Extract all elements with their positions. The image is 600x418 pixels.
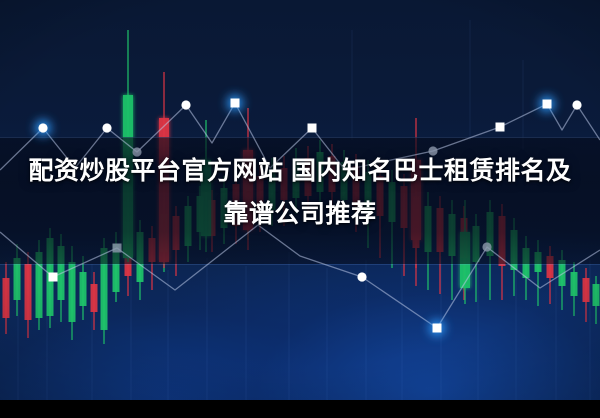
headline-block: 配资炒股平台官方网站 国内知名巴士租赁排名及 靠谱公司推荐 xyxy=(0,150,600,236)
stock-banner: 配资炒股平台官方网站 国内知名巴士租赁排名及 靠谱公司推荐 xyxy=(0,0,600,400)
page-title: 配资炒股平台官方网站 国内知名巴士租赁排名及 靠谱公司推荐 xyxy=(28,150,572,236)
